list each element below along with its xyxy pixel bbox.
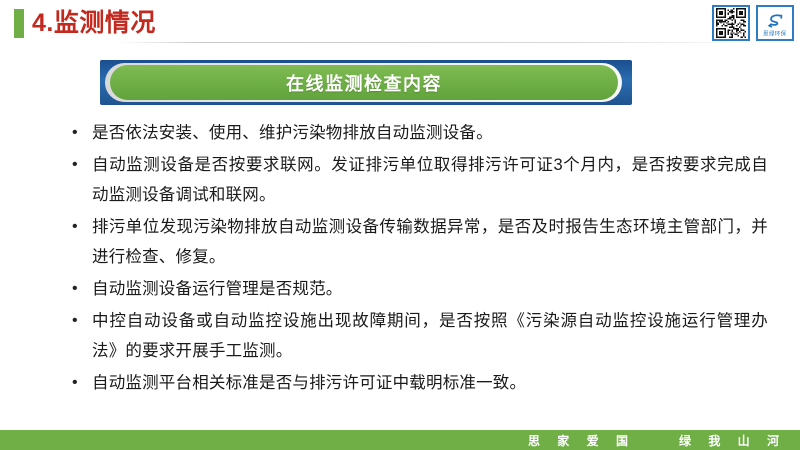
footer-slogan-right: 绿 我 山 河 — [679, 432, 786, 449]
bullet-marker-icon: • — [68, 150, 92, 180]
title-accent-bar — [14, 9, 24, 38]
list-item: • 自动监测平台相关标准是否与排污许可证中载明标准一致。 — [68, 368, 768, 398]
bullet-marker-icon: • — [68, 368, 92, 398]
company-logo: 思绿环保 — [758, 7, 792, 39]
list-item-text: 中控自动设备或自动监控设施出现故障期间，是否按照《污染源自动监控设施运行管理办法… — [92, 306, 768, 366]
list-item: • 是否依法安装、使用、维护污染物排放自动监测设备。 — [68, 118, 768, 148]
list-item: • 自动监测设备运行管理是否规范。 — [68, 274, 768, 304]
banner-title: 在线监测检查内容 — [286, 70, 442, 96]
logo-caption: 思绿环保 — [763, 31, 786, 39]
list-item: • 中控自动设备或自动监控设施出现故障期间，是否按照《污染源自动监控设施运行管理… — [68, 306, 768, 366]
qr-code-badge[interactable] — [712, 5, 750, 41]
list-item-text: 自动监测设备是否按要求联网。发证排污单位取得排污许可证3个月内，是否按要求完成自… — [92, 150, 768, 210]
banner-body: 在线监测检查内容 — [110, 65, 618, 100]
company-logo-badge[interactable]: 思绿环保 — [756, 5, 794, 41]
footer-slogan-group: 思 家 爱 国 绿 我 山 河 — [528, 430, 786, 450]
bullet-marker-icon: • — [68, 118, 92, 148]
list-item-text: 自动监测平台相关标准是否与排污许可证中载明标准一致。 — [92, 368, 768, 398]
list-item-text: 自动监测设备运行管理是否规范。 — [92, 274, 768, 304]
bullet-list: • 是否依法安装、使用、维护污染物排放自动监测设备。 • 自动监测设备是否按要求… — [68, 118, 768, 400]
slide-footer: 思 家 爱 国 绿 我 山 河 — [0, 430, 800, 450]
bullet-marker-icon: • — [68, 306, 92, 336]
page-title: 4.监测情况 — [32, 6, 156, 40]
bullet-marker-icon: • — [68, 274, 92, 304]
badge-group: 思绿环保 — [712, 4, 794, 42]
bullet-marker-icon: • — [68, 212, 92, 242]
slide-header: 4.监测情况 — [0, 0, 800, 48]
list-item: • 自动监测设备是否按要求联网。发证排污单位取得排污许可证3个月内，是否按要求完… — [68, 150, 768, 210]
slide-canvas: 4.监测情况 思绿环保 在 — [0, 0, 800, 450]
footer-slogan-left: 思 家 爱 国 — [528, 432, 635, 449]
logo-s-mark — [765, 11, 785, 31]
title-divider — [120, 42, 760, 43]
list-item: • 排污单位发现污染物排放自动监测设备传输数据异常，是否及时报告生态环境主管部门… — [68, 212, 768, 272]
list-item-text: 排污单位发现污染物排放自动监测设备传输数据异常，是否及时报告生态环境主管部门，并… — [92, 212, 768, 272]
section-banner: 在线监测检查内容 — [100, 60, 632, 105]
list-item-text: 是否依法安装、使用、维护污染物排放自动监测设备。 — [92, 118, 768, 148]
qr-code-icon — [716, 8, 746, 38]
